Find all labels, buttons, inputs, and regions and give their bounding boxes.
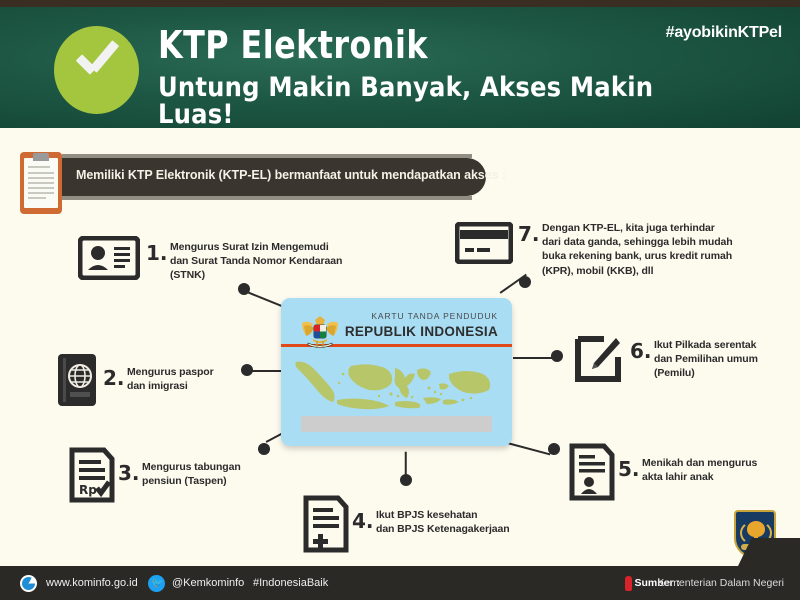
footer-twitter-handle[interactable]: @Kemkominfo [172, 577, 244, 589]
connector-dot-6 [551, 350, 563, 362]
check-icon [54, 26, 139, 114]
kominfo-logo-icon [20, 575, 37, 592]
health-document-icon [302, 495, 350, 558]
footer-hashtag[interactable]: #IndonesiaBaik [253, 577, 328, 589]
header-hashtag: #ayobikinKTPel [666, 24, 782, 42]
card-signature-strip [301, 416, 492, 432]
checkmark-glyph [74, 50, 120, 74]
card-title-small: KARTU TANDA PENDUDUK [371, 311, 498, 321]
item-text-4: Ikut BPJS kesehatan dan BPJS Ketenagaker… [376, 508, 536, 536]
item-number-5: 5. [618, 457, 640, 481]
clipboard-page [24, 158, 58, 208]
clipboard-clip [33, 153, 49, 161]
item-number-7: 7. [518, 222, 540, 246]
banner-edge-bottom [62, 196, 472, 200]
item-number-1: 1. [146, 241, 168, 265]
item-text-6: Ikut Pilkada serentak dan Pemilihan umum… [654, 338, 800, 381]
item-text-3: Mengurus tabungan pensiun (Taspen) [142, 460, 272, 488]
item-text-1: Mengurus Surat Izin Mengemudi dan Surat … [170, 240, 355, 283]
intro-banner: Memiliki KTP Elektronik (KTP-EL) bermanf… [0, 146, 800, 206]
indonesia-map [291, 354, 503, 424]
passport-icon [55, 352, 100, 413]
source-value: Kementerian Dalam Negeri [657, 577, 784, 589]
id-card-icon [78, 236, 140, 285]
connector-dot-3 [258, 443, 270, 455]
garuda-pancasila-emblem [299, 310, 341, 352]
item-number-3: 3. [118, 461, 140, 485]
connector-line-2 [250, 370, 283, 372]
footer-website[interactable]: www.kominfo.go.id [46, 577, 138, 589]
twitter-icon[interactable] [148, 575, 165, 592]
page-title: KTP Elektronik [158, 26, 428, 64]
item-number-4: 4. [352, 509, 374, 533]
ballot-pencil-icon [574, 335, 622, 388]
connector-line-4 [405, 452, 407, 480]
birth-certificate-icon [568, 443, 616, 506]
connector-line-6 [513, 357, 555, 359]
item-text-7: Dengan KTP-EL, kita juga terhindar dari … [542, 221, 757, 278]
item-text-2: Mengurus paspor dan imigrasi [127, 365, 252, 393]
source-marker-icon [625, 576, 632, 591]
clipboard-icon [20, 152, 62, 214]
card-title-big: REPUBLIK INDONESIA [345, 324, 498, 339]
page-subtitle: Untung Makin Banyak, Akses Makin Luas! [158, 74, 736, 128]
item-number-2: 2. [103, 366, 125, 390]
ktp-card: KARTU TANDA PENDUDUK REPUBLIK INDONESIA [281, 298, 512, 446]
header-top-stripe [0, 0, 800, 7]
svg-text:Rp: Rp [79, 483, 97, 497]
savings-document-icon: Rp [68, 447, 116, 508]
item-number-6: 6. [630, 339, 652, 363]
item-text-5: Menikah dan mengurus akta lahir anak [642, 456, 787, 484]
page-footer: www.kominfo.go.id @Kemkominfo #Indonesia… [0, 566, 800, 600]
banner-text: Memiliki KTP Elektronik (KTP-EL) bermanf… [76, 168, 506, 182]
credit-card-icon [455, 222, 513, 269]
page-header: KTP Elektronik Untung Makin Banyak, Akse… [0, 0, 800, 128]
